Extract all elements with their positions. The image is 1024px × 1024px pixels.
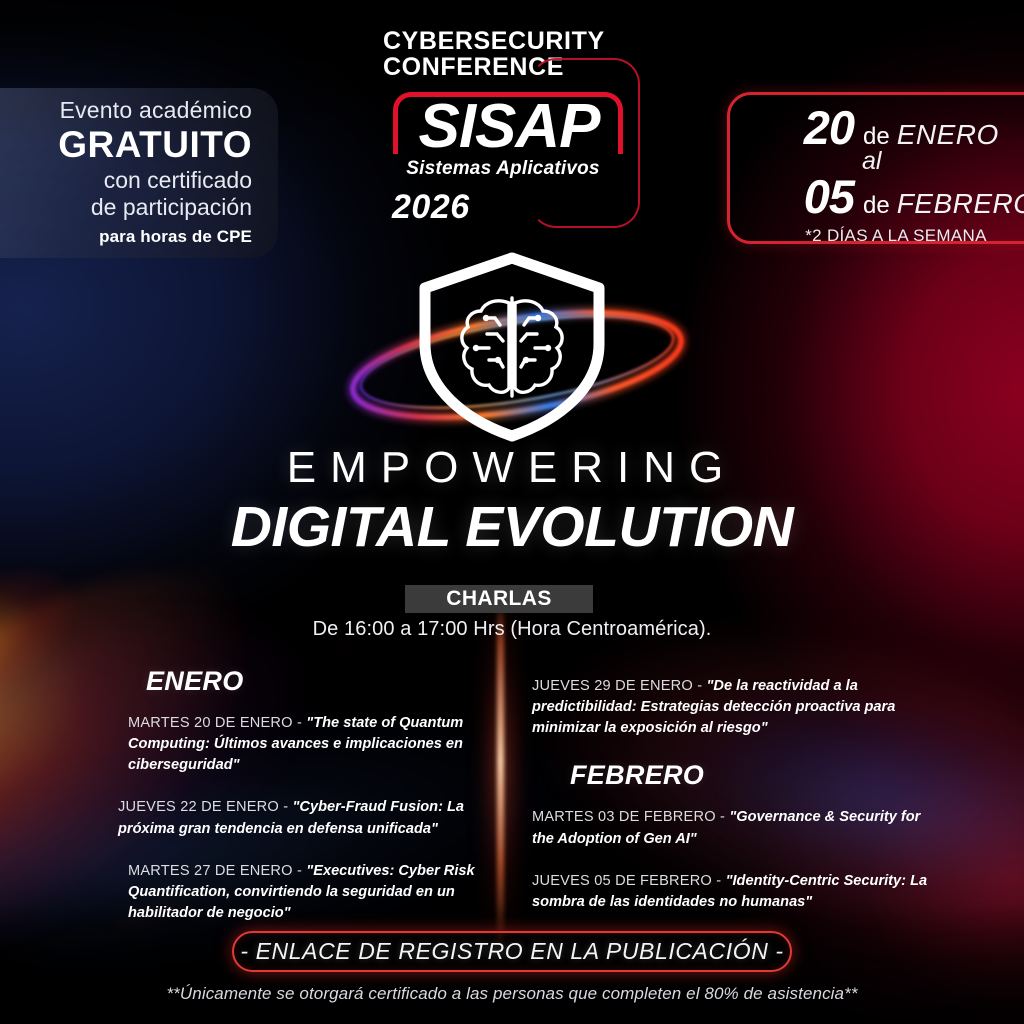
slogan-block: EMPOWERING DIGITAL EVOLUTION (0, 443, 1024, 559)
date-row-al: al (746, 147, 1024, 176)
date-month-start: ENERO (897, 119, 999, 151)
date-row-end: 05 de FEBRERO (746, 174, 1024, 220)
month-heading-febrero: FEBRERO (532, 760, 932, 791)
talk-date: MARTES 27 DE ENERO - (128, 863, 306, 879)
talk-date: JUEVES 22 DE ENERO - (118, 799, 293, 815)
schedule-column-right: JUEVES 29 DE ENERO - "De la reactividad … (532, 676, 932, 934)
event-dates-box: 20 de ENERO al 05 de FEBRERO *2 DÍAS A L… (727, 92, 1024, 244)
registration-link-button[interactable]: - ENLACE DE REGISTRO EN LA PUBLICACIÓN - (232, 931, 792, 972)
talk-item: MARTES 27 DE ENERO - "Executives: Cyber … (118, 861, 478, 924)
date-day-end: 05 (746, 174, 854, 219)
date-de-2: de (863, 192, 890, 220)
conference-title-line1: CYBERSECURITY (383, 28, 643, 54)
brain-icon (462, 298, 562, 396)
date-frequency-note: *2 DÍAS A LA SEMANA (746, 226, 1024, 246)
badge-line-gratuito: GRATUITO (58, 125, 252, 166)
attendance-disclaimer: **Únicamente se otorgará certificado a l… (0, 984, 1024, 1004)
talk-item: JUEVES 29 DE ENERO - "De la reactividad … (532, 676, 932, 739)
month-heading-enero: ENERO (118, 666, 478, 697)
date-day-start: 20 (746, 105, 854, 150)
shield-brain-emblem (337, 248, 687, 448)
slogan-line-digital-evolution: DIGITAL EVOLUTION (0, 496, 1024, 559)
talk-item: MARTES 03 DE FEBRERO - "Governance & Sec… (532, 807, 932, 849)
talk-date: MARTES 20 DE ENERO - (128, 715, 306, 731)
brand-wordmark: SISAP (396, 96, 622, 158)
talk-date: JUEVES 29 DE ENERO - (532, 678, 707, 694)
talk-date: MARTES 03 DE FEBRERO - (532, 809, 729, 825)
conference-year: 2026 (392, 188, 470, 227)
brand-tagline: Sistemas Aplicativos (388, 158, 618, 180)
slogan-line-empowering: EMPOWERING (0, 443, 1024, 492)
sessions-tag: CHARLAS (405, 585, 593, 613)
date-row-start: 20 de ENERO (746, 105, 1024, 151)
badge-line-participacion: de participación (91, 194, 252, 222)
schedule-column-left: ENERO MARTES 20 DE ENERO - "The state of… (118, 666, 478, 945)
badge-line-cpe: para horas de CPE (99, 227, 252, 247)
badge-line-certificado: con certificado (104, 167, 252, 195)
poster-canvas: Evento académico GRATUITO con certificad… (0, 0, 1024, 1024)
free-event-badge: Evento académico GRATUITO con certificad… (0, 88, 278, 258)
talk-date: JUEVES 05 DE FEBRERO - (532, 873, 726, 889)
talk-item: JUEVES 22 DE ENERO - "Cyber-Fraud Fusion… (118, 797, 478, 839)
talk-item: MARTES 20 DE ENERO - "The state of Quant… (118, 713, 478, 776)
sessions-time: De 16:00 a 17:00 Hrs (Hora Centroamérica… (0, 618, 1024, 641)
badge-line-evento: Evento académico (60, 97, 252, 124)
talk-item: JUEVES 05 DE FEBRERO - "Identity-Centric… (532, 871, 932, 913)
column-divider-beam (497, 600, 504, 950)
date-al: al (862, 147, 881, 176)
date-month-end: FEBRERO (897, 188, 1024, 220)
